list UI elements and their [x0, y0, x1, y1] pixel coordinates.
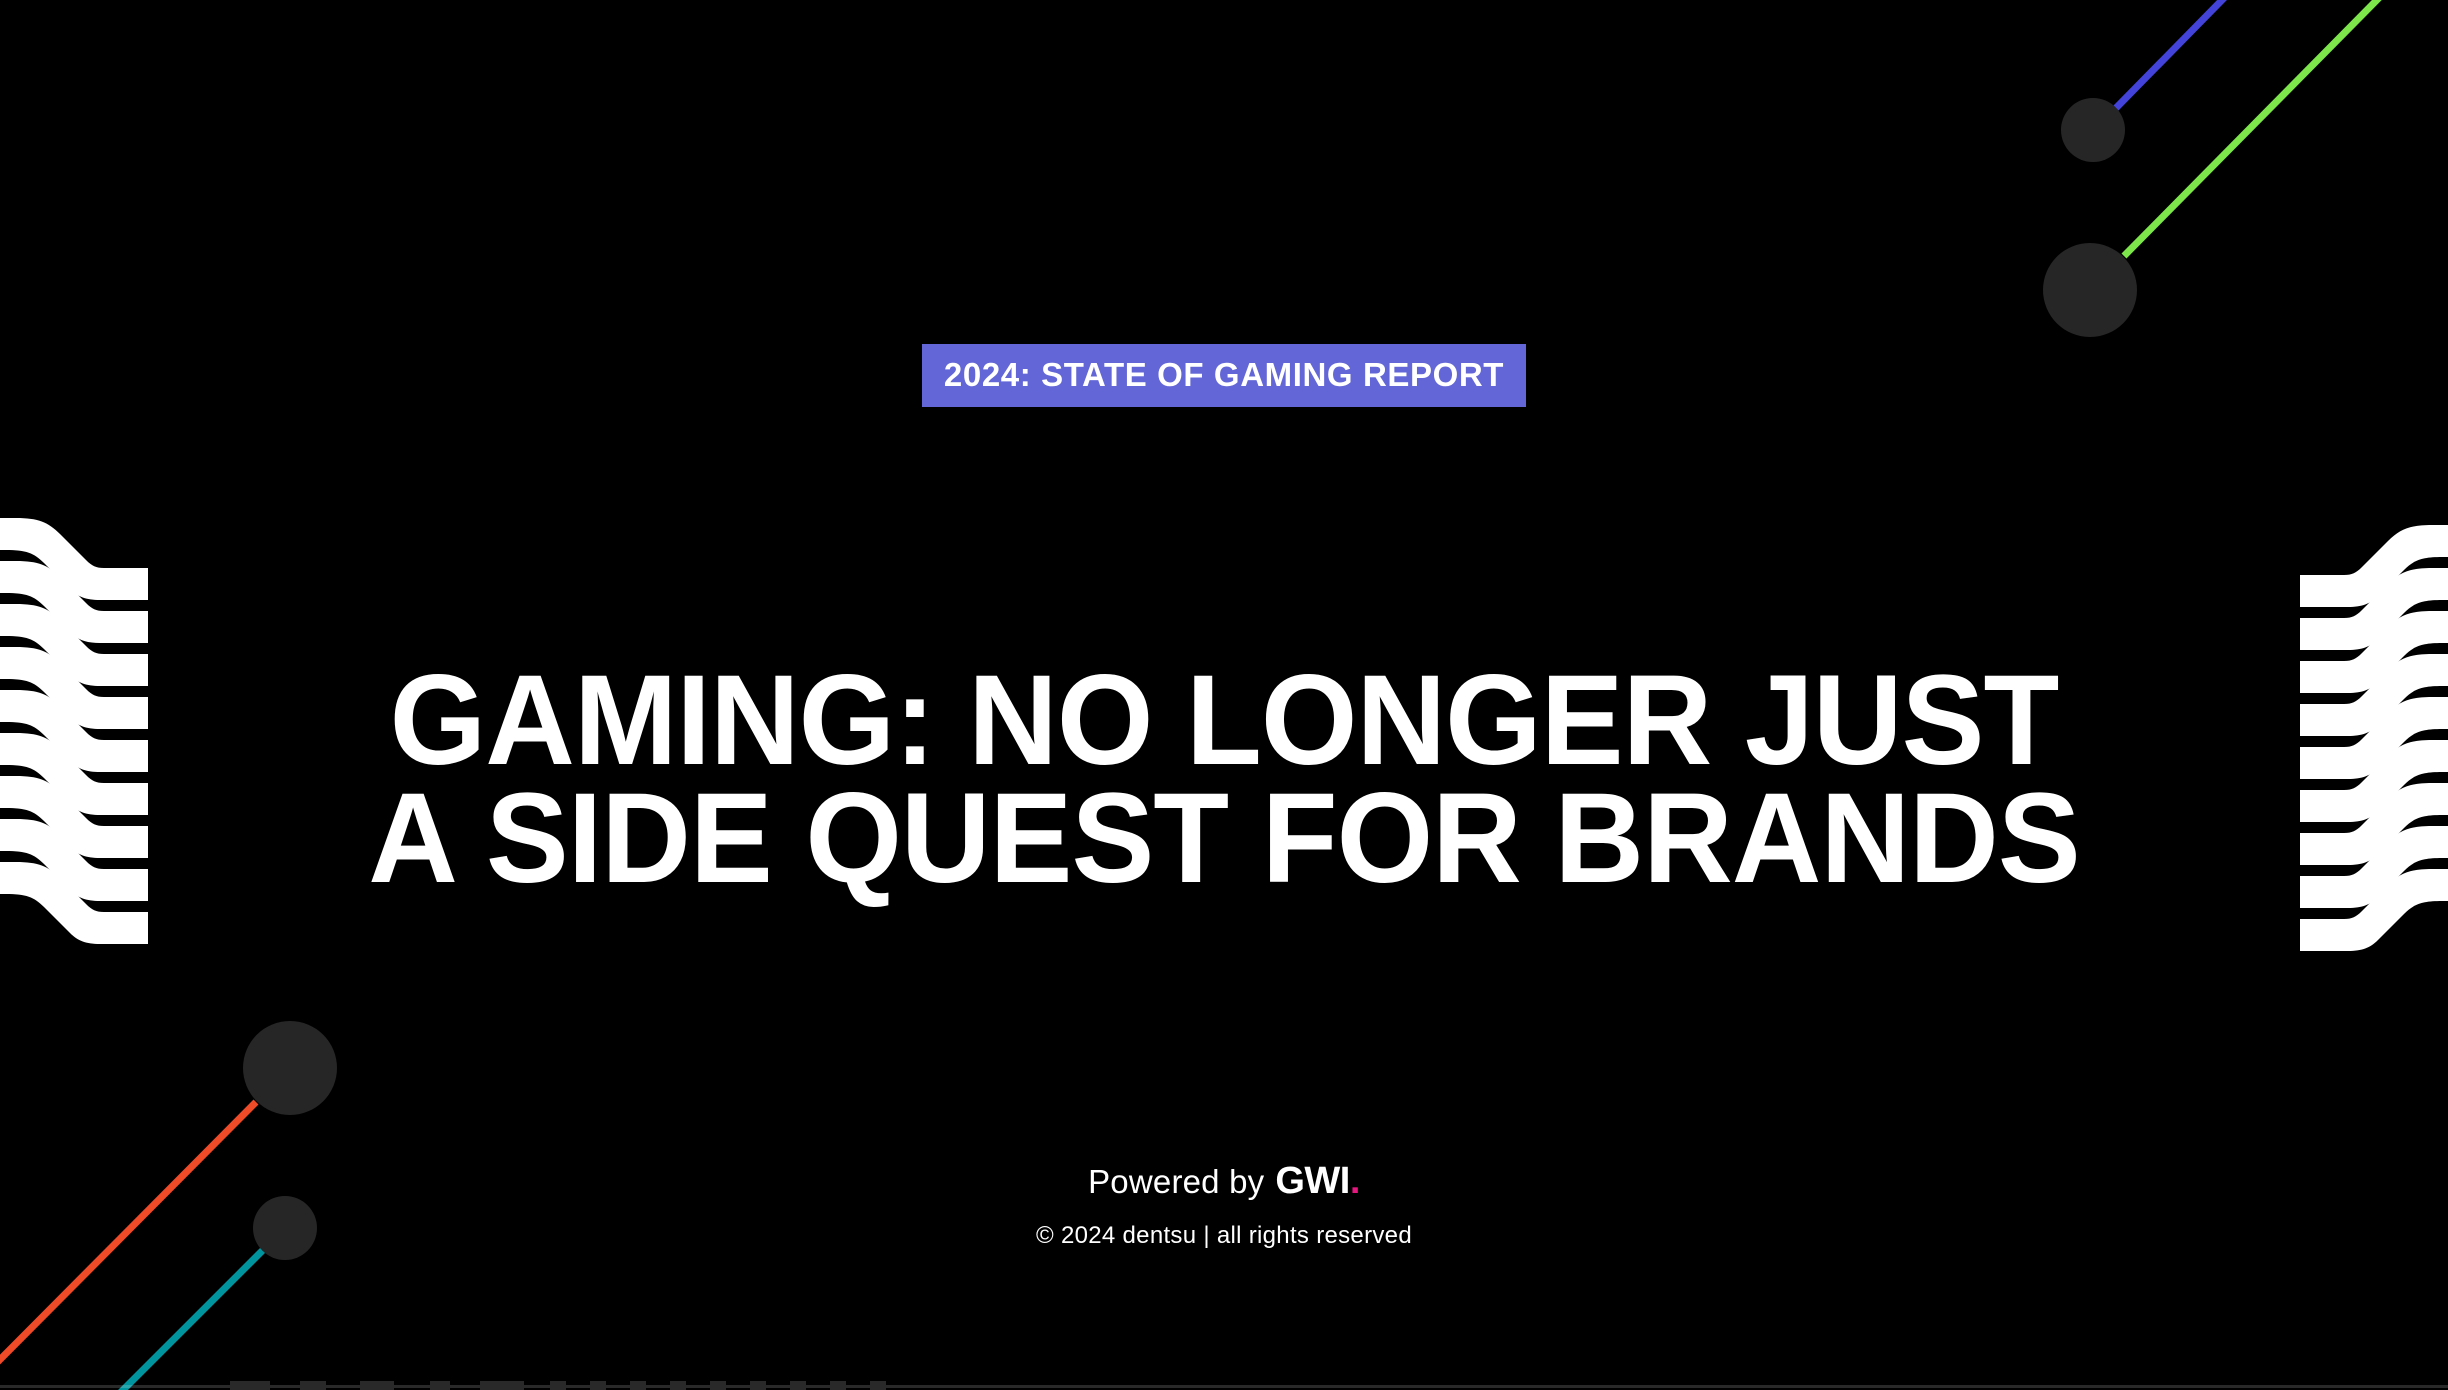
circle-top-large — [2043, 243, 2137, 337]
green-line — [2124, 0, 2448, 256]
page-title: GAMING: NO LONGER JUST A SIDE QUEST FOR … — [37, 662, 2412, 898]
blue-line — [2116, 0, 2330, 108]
report-badge: 2024: STATE OF GAMING REPORT — [922, 344, 1526, 407]
report-badge-container: 2024: STATE OF GAMING REPORT — [0, 344, 2448, 407]
footer: Powered by GWI. © 2024 dentsu | all righ… — [0, 1160, 2448, 1250]
bottom-edge-sliver — [0, 1381, 2448, 1390]
page-title-line-1: GAMING: NO LONGER JUST — [37, 662, 2412, 780]
teal-line — [30, 1250, 263, 1390]
copyright-notice: © 2024 dentsu | all rights reserved — [0, 1222, 2448, 1250]
powered-by-block: Powered by GWI. — [0, 1160, 2448, 1203]
gwi-logo-wordmark: GWI — [1275, 1160, 1349, 1202]
gwi-logo: GWI. — [1275, 1160, 1360, 1203]
circle-bottom-large — [243, 1021, 337, 1115]
title-slide: 2024: STATE OF GAMING REPORT GAMING: NO … — [0, 0, 2448, 1390]
circle-top-small — [2061, 98, 2125, 162]
powered-by-label: Powered by — [1088, 1163, 1264, 1201]
page-title-line-2: A SIDE QUEST FOR BRANDS — [37, 780, 2412, 898]
gwi-logo-dot: . — [1350, 1160, 1360, 1202]
